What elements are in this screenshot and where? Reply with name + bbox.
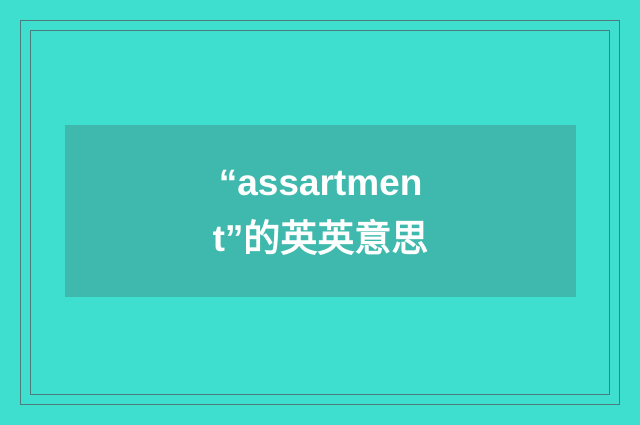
poster-canvas: “assartment”的英英意思 xyxy=(0,0,640,425)
poster-title: “assartment”的英英意思 xyxy=(191,155,451,267)
title-plate: “assartment”的英英意思 xyxy=(65,125,576,297)
